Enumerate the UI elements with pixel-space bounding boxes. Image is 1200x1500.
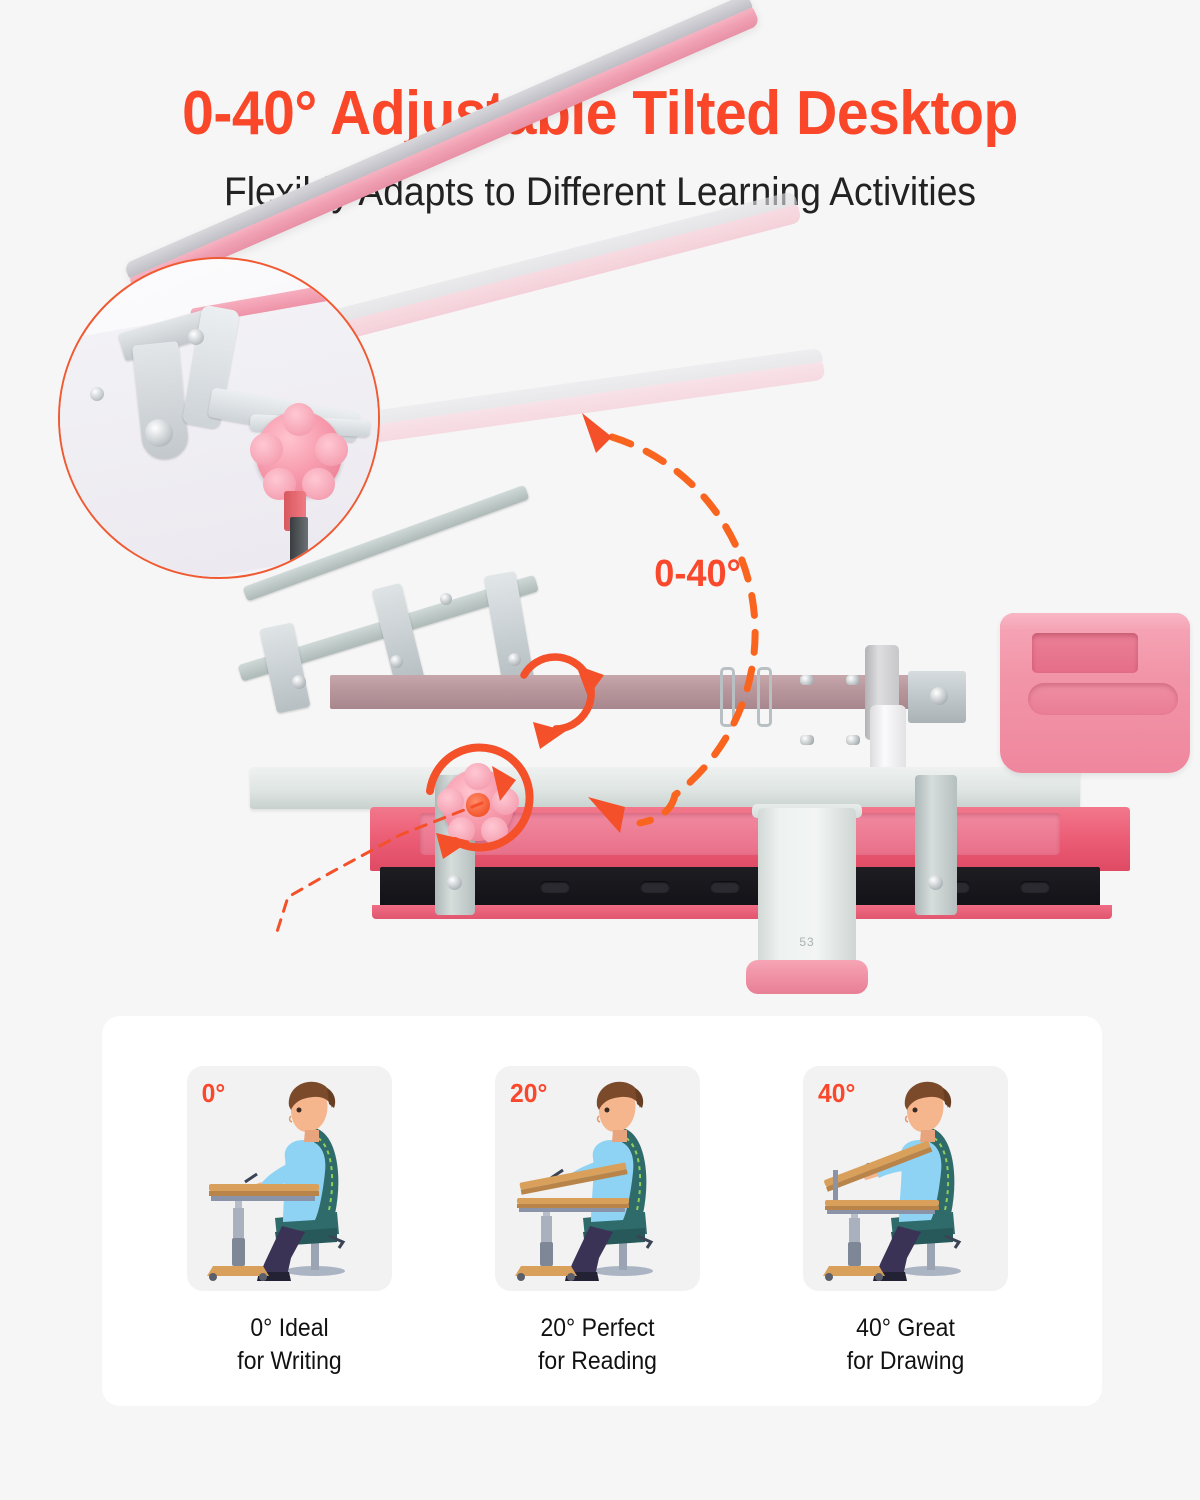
angle-panels: 0° 0° Ideal for Writing [102,1016,1102,1406]
page-subtitle: Flexibly Adapts to Different Learning Ac… [42,170,1158,215]
inset-tilt-knob [256,411,342,497]
arc-arrow-up [582,413,612,453]
angle-label-40: 40° Great for Drawing [811,1312,1000,1378]
angle-label-0-line2: for Writing [195,1345,384,1378]
angle-range-arc [612,437,755,795]
angle-label-20-line1: 20° Perfect [503,1312,692,1345]
knob-lobe [315,433,348,466]
angle-label-20-line2: for Reading [503,1345,692,1378]
angle-label-40-line2: for Drawing [811,1345,1000,1378]
inset-screw [188,329,204,345]
angle-range-arc-tail [640,795,675,823]
knob-rotation-arc [430,747,530,847]
angle-range-label: 0-40° [654,553,741,596]
angle-label-0-line1: 0° Ideal [195,1312,384,1345]
hinge-knob-detail-inset [58,257,380,579]
angle-label-0: 0° Ideal for Writing [195,1312,384,1378]
knob-rotation-arrow-a [492,766,516,801]
arc-arrow-down [588,797,625,833]
angle-panel-20[interactable]: 20° [495,1066,700,1291]
angle-badge-0: 0° [202,1078,226,1109]
angle-panel-40[interactable]: 40° [803,1066,1008,1291]
angle-panel-0[interactable]: 0° [187,1066,392,1291]
angle-label-20: 20° Perfect for Reading [503,1312,692,1378]
knob-lobe [250,433,283,466]
knob-lobe [283,403,316,436]
angle-badge-20: 20° [510,1078,547,1109]
angle-label-40-line1: 40° Great [811,1312,1000,1345]
knob-leader-line [276,803,482,935]
infographic-page: 0-40° Adjustable Tilted Desktop Flexibly… [0,0,1200,1500]
inset-screw [145,419,173,447]
hinge-rotation-arrow-a [576,665,604,697]
inset-screw [90,387,104,401]
angle-badge-40: 40° [818,1078,855,1109]
angle-examples-card: 0° 0° Ideal for Writing [102,1016,1102,1406]
inset-knob-post [290,517,308,565]
hero-product-image: 53 [0,235,1200,1015]
